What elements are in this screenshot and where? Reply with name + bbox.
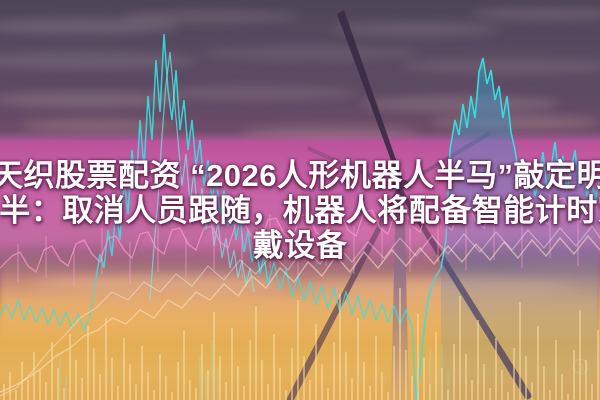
watermark-icon [573,359,588,374]
headline-line-2: 4月半：取消人员跟随，机器人将配备智能计时穿戴设 [0,193,600,228]
headline-line-3: 戴设备 [0,228,600,263]
news-thumbnail-image: 天织股票配资 “2026人形机器人半马”敲定明 4月半：取消人员跟随，机器人将配… [0,0,600,400]
headline-line-1: 天织股票配资 “2026人形机器人半马”敲定明 [0,158,600,193]
headline-text: 天织股票配资 “2026人形机器人半马”敲定明 4月半：取消人员跟随，机器人将配… [0,158,600,263]
